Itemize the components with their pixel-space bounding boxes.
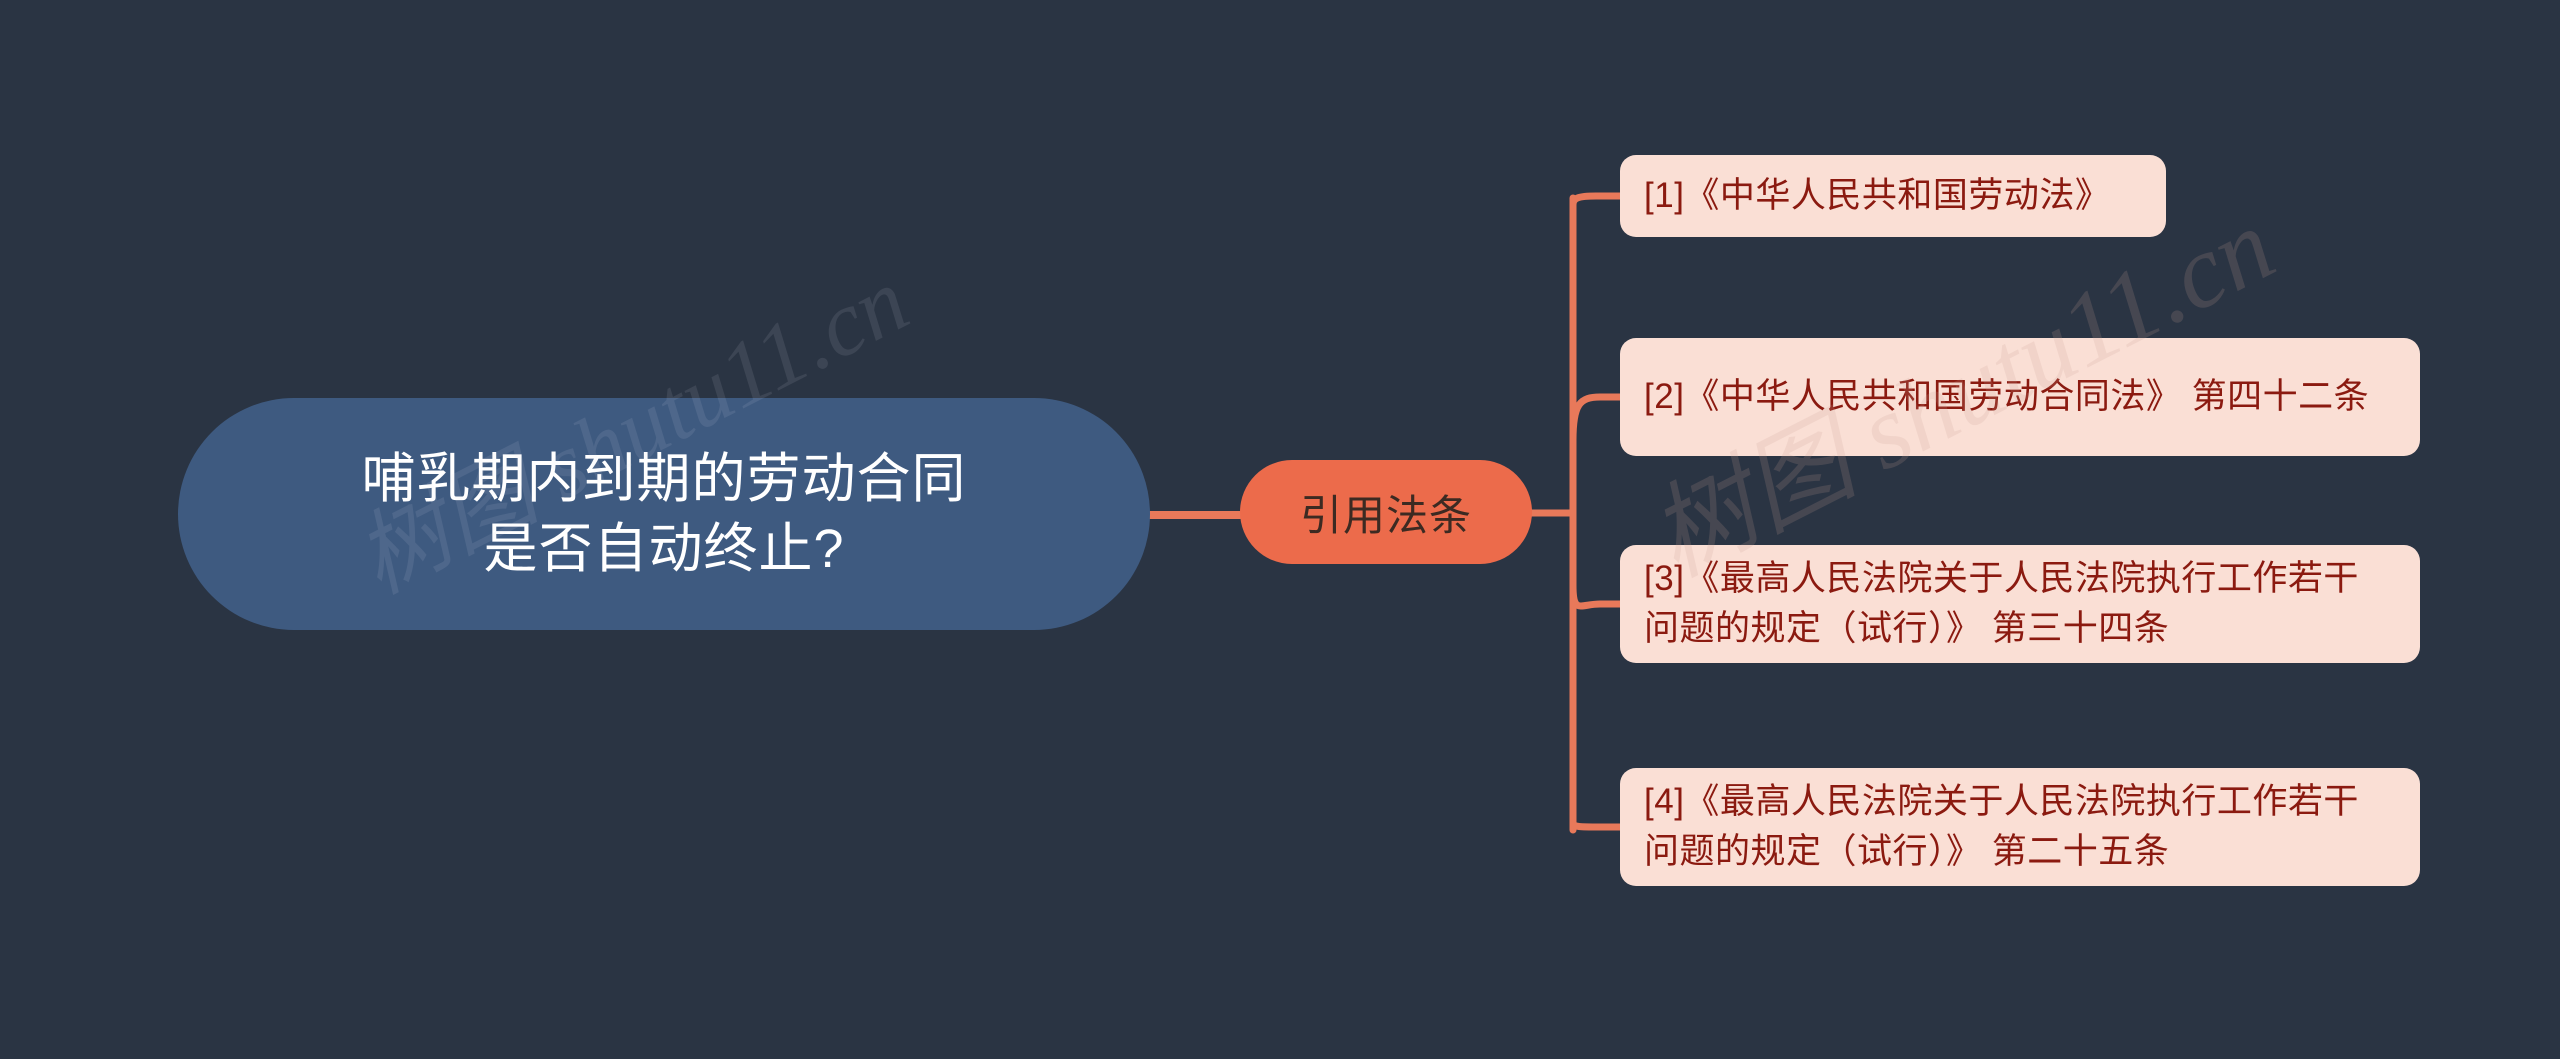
connector-to-leaf-3: [1573, 585, 1620, 606]
branch-node-citations[interactable]: 引用法条: [1240, 460, 1532, 564]
root-node[interactable]: 哺乳期内到期的劳动合同 是否自动终止?: [178, 398, 1150, 630]
leaf-node-2[interactable]: [2]《中华人民共和国劳动合同法》 第四十二条: [1620, 338, 2420, 456]
leaf-node-1[interactable]: [1]《中华人民共和国劳动法》: [1620, 155, 2166, 237]
connector-to-leaf-4: [1573, 823, 1620, 827]
leaf-node-3[interactable]: [3]《最高人民法院关于人民法院执行工作若干问题的规定（试行）》 第三十四条: [1620, 545, 2420, 663]
leaf-node-4[interactable]: [4]《最高人民法院关于人民法院执行工作若干问题的规定（试行）》 第二十五条: [1620, 768, 2420, 886]
root-node-label-line-2: 是否自动终止?: [483, 514, 844, 584]
leaf-node-3-label: [3]《最高人民法院关于人民法院执行工作若干问题的规定（试行）》 第三十四条: [1644, 554, 2394, 653]
branch-node-label: 引用法条: [1300, 482, 1472, 543]
connector-to-leaf-1: [1573, 196, 1620, 205]
leaf-node-4-label: [4]《最高人民法院关于人民法院执行工作若干问题的规定（试行）》 第二十五条: [1644, 777, 2394, 876]
root-node-label-line-1: 哺乳期内到期的劳动合同: [362, 444, 967, 514]
leaf-node-2-label: [2]《中华人民共和国劳动合同法》 第四十二条: [1644, 372, 2369, 422]
mindmap-canvas: 树图 shutu11.cn 树图 shutu11.cn 哺乳期内到期的劳动合同 …: [0, 0, 2560, 1059]
connector-to-leaf-2: [1573, 397, 1620, 440]
leaf-node-1-label: [1]《中华人民共和国劳动法》: [1644, 171, 2110, 221]
